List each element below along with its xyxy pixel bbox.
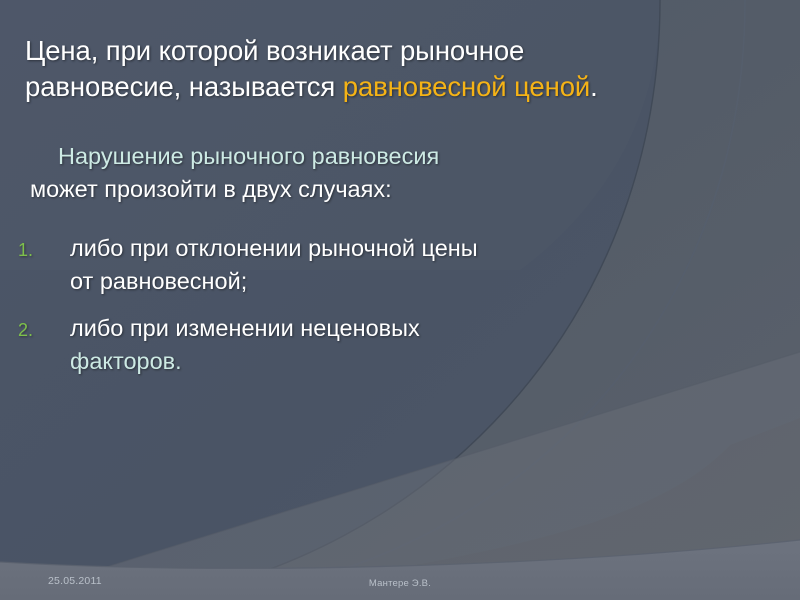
body-line-1: Нарушение рыночного равновесия [58,143,439,169]
list-item-line-1: либо при изменении неценовых [70,315,420,341]
list-item: 2. либо при изменении неценовых факторов… [14,312,714,378]
list-item-line-2: факторов. [70,348,182,374]
body-paragraph: Нарушение рыночного равновесия может про… [30,140,690,206]
title-line-2-prefix: равновесие, называется [25,71,343,102]
slide-content: Цена, при которой возникает рыночное рав… [0,0,800,600]
list-item: 1. либо при отклонении рыночной цены от … [14,232,714,298]
footer-author: Мантере Э.В. [0,578,800,589]
title-highlight-term: равновесной ценой [343,71,590,102]
list-item-line-1: либо при отклонении рыночной цены [70,235,478,261]
title-line-2-suffix: . [590,71,598,102]
list-marker: 2. [18,314,52,347]
list-marker: 1. [18,234,52,267]
slide-canvas: Цена, при которой возникает рыночное рав… [0,0,800,600]
list-item-line-2: от равновесной; [70,268,247,294]
slide-title: Цена, при которой возникает рыночное рав… [25,33,715,105]
numbered-list: 1. либо при отклонении рыночной цены от … [14,232,714,392]
title-line-1: Цена, при которой возникает рыночное [25,35,524,66]
body-line-2: может произойти в двух случаях: [30,176,392,202]
